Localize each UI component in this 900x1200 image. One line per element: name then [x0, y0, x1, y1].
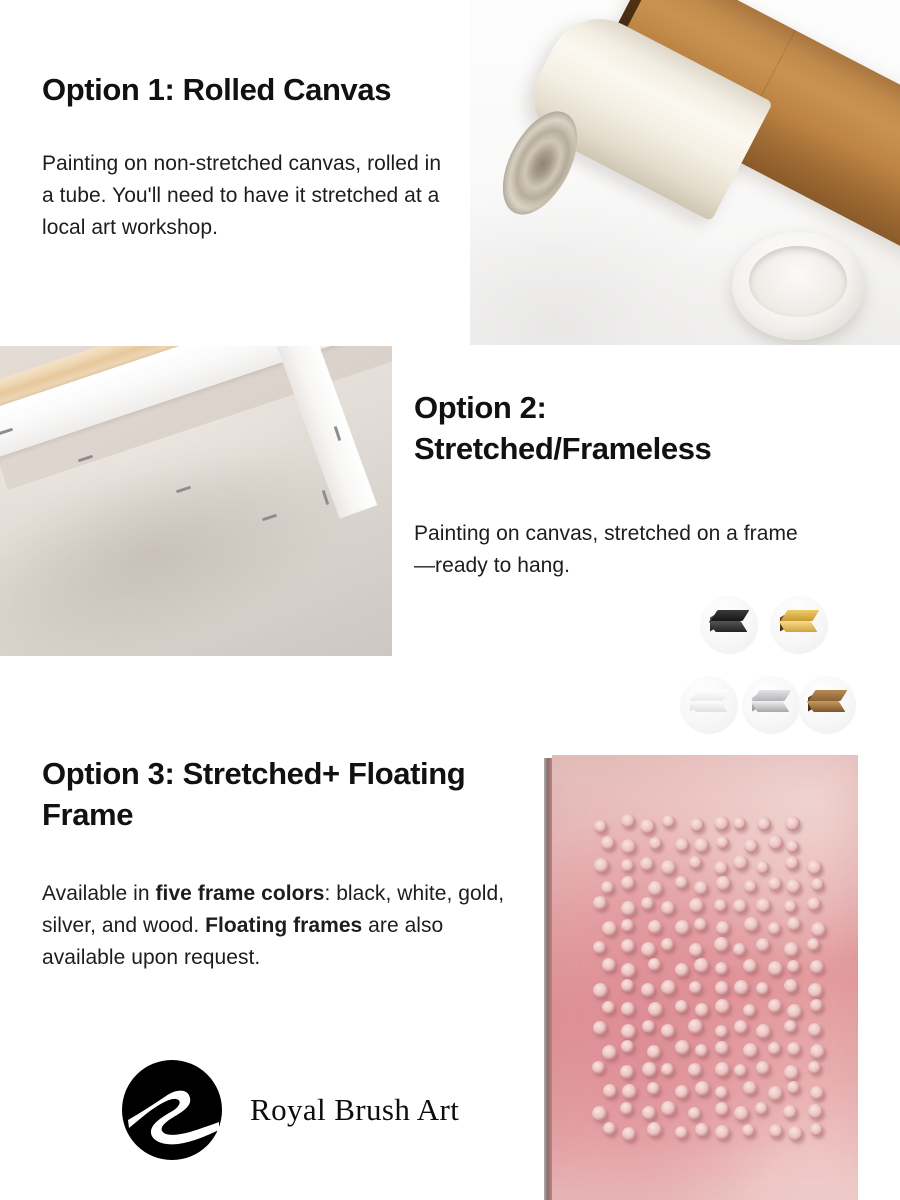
- artwork-texture-dot: [715, 981, 729, 995]
- artwork-texture-dot: [621, 1024, 636, 1039]
- frame-color-swatch-group: [676, 596, 862, 738]
- artwork-texture-dot: [621, 1040, 634, 1053]
- artwork-texture-dot: [807, 897, 821, 911]
- artwork-texture-dot: [811, 878, 824, 891]
- artwork-texture-dot: [784, 900, 797, 913]
- artwork-texture-dot: [642, 1106, 656, 1120]
- option-3-body: Available in five frame colors: black, w…: [42, 878, 512, 974]
- artwork-texture-dot: [695, 1003, 709, 1017]
- artwork-texture-dot: [743, 1043, 758, 1058]
- artwork-texture-dot: [733, 855, 748, 870]
- artwork-texture-dot: [768, 835, 783, 850]
- artwork-texture-dot: [787, 1042, 801, 1056]
- artwork-texture-dot: [768, 1042, 781, 1055]
- artwork-texture-dot: [642, 1062, 657, 1077]
- frame-corner-icon: [778, 606, 818, 644]
- artwork-texture-dot: [675, 1126, 688, 1139]
- artwork-texture-dot: [689, 856, 702, 869]
- artwork-texture-dot: [621, 876, 635, 890]
- artwork-texture-dot: [808, 1104, 823, 1119]
- artwork-texture-dot: [715, 962, 728, 975]
- artwork-texture-dot: [641, 983, 655, 997]
- artwork-texture-dot: [648, 881, 663, 896]
- artwork-texture-dot: [734, 1064, 747, 1077]
- artwork-texture-dot: [714, 899, 727, 912]
- pink-textured-artwork-photo: [544, 755, 858, 1200]
- artwork-texture-dot: [689, 943, 703, 957]
- artwork-texture-dot: [715, 1025, 728, 1038]
- artwork-texture-dot: [661, 938, 674, 951]
- artwork-texture-dot: [734, 1020, 748, 1034]
- artwork-texture-dot: [786, 879, 801, 894]
- body-text: Available in: [42, 882, 156, 905]
- artwork-texture-dot: [620, 1065, 634, 1079]
- stretched-canvas-back-corner-photo: [0, 346, 392, 656]
- artwork-texture-dot: [743, 1081, 757, 1095]
- artwork-texture-dot: [715, 1102, 729, 1116]
- artwork-texture-dot: [602, 958, 616, 972]
- artwork-texture-dot: [715, 1041, 729, 1055]
- artwork-texture-dot: [592, 1106, 607, 1121]
- artwork-texture-dot: [593, 983, 608, 998]
- frame-swatch-white[interactable]: [680, 676, 738, 734]
- artwork-texture-dot: [734, 1106, 749, 1121]
- artwork-texture-dot: [768, 877, 782, 891]
- artwork-texture-dot: [661, 1063, 674, 1076]
- option-1-body: Painting on non-stretched canvas, rolled…: [42, 148, 450, 244]
- artwork-texture-dot: [787, 1081, 800, 1094]
- canvas-options-infographic: Option 1: Rolled Canvas Painting on non-…: [0, 0, 900, 1200]
- artwork-texture-dot: [675, 838, 689, 852]
- artwork-texture-dot: [715, 1062, 730, 1077]
- artwork-texture-dot: [694, 881, 708, 895]
- artwork-texture-dot: [594, 820, 607, 833]
- artwork-texture-dot: [756, 898, 771, 913]
- artwork-texture-dot: [641, 897, 654, 910]
- artwork-texture-dot: [688, 1063, 702, 1077]
- frame-corner-icon: [708, 606, 748, 644]
- tube-end-cap: [732, 232, 864, 340]
- artwork-texture-dot: [662, 815, 675, 828]
- artwork-texture-dot: [716, 921, 730, 935]
- artwork-texture-dot: [785, 856, 799, 870]
- artwork-texture-dot: [641, 942, 656, 957]
- frame-corner-icon: [750, 686, 790, 724]
- artwork-texture-dot: [733, 943, 746, 956]
- brand-name: Royal Brush Art: [250, 1092, 459, 1128]
- artwork-texture-dot: [621, 939, 635, 953]
- artwork-texture-dot: [810, 960, 824, 974]
- artwork-texture-dot: [621, 839, 636, 854]
- artwork-texture-dot: [622, 1127, 636, 1141]
- artwork-texture-dot: [690, 818, 704, 832]
- artwork-texture-dot: [661, 1101, 676, 1116]
- artwork-texture-dot: [784, 1065, 799, 1080]
- artwork-texture-dot: [648, 1002, 663, 1017]
- artwork-texture-dot: [808, 983, 823, 998]
- option-2-heading: Option 2: Stretched/Frameless: [414, 388, 834, 470]
- artwork-texture-dot: [784, 942, 799, 957]
- frame-swatch-silver[interactable]: [742, 676, 800, 734]
- artwork-texture-dot: [675, 1085, 689, 1099]
- artwork-texture-dot: [756, 1061, 770, 1075]
- artwork-texture-dot: [602, 1001, 615, 1014]
- artwork-texture-dot: [661, 860, 676, 875]
- artwork-texture-dot: [755, 1102, 768, 1115]
- royal-brush-art-logo-icon: [120, 1058, 224, 1162]
- artwork-texture-dot: [593, 1021, 607, 1035]
- artwork-texture-dot: [783, 1105, 797, 1119]
- frame-corner-icon: [806, 686, 846, 724]
- artwork-texture-dot: [601, 836, 615, 850]
- artwork-texture-dot: [594, 858, 609, 873]
- artwork-texture-dot: [621, 963, 636, 978]
- artwork-texture-dot: [787, 960, 800, 973]
- option-2-body: Painting on canvas, stretched on a frame…: [414, 518, 818, 582]
- artwork-texture-dot: [675, 920, 690, 935]
- artwork-texture-dot: [810, 1086, 824, 1100]
- artwork-texture-dot: [715, 1086, 728, 1099]
- emphasized-text: Floating frames: [205, 914, 362, 937]
- artwork-texture-dot: [689, 898, 704, 913]
- artwork-texture-dot: [716, 876, 731, 891]
- artwork-texture-dot: [593, 896, 607, 910]
- artwork-texture-dot: [603, 1084, 617, 1098]
- artwork-texture-dot: [786, 840, 799, 853]
- artwork-texture-dot: [621, 919, 634, 932]
- artwork-texture-dot: [744, 880, 757, 893]
- artwork-texture-dot: [743, 1004, 756, 1017]
- artwork-texture-dot: [675, 963, 689, 977]
- artwork-texture-dot: [756, 938, 770, 952]
- artwork-texture-dot: [768, 961, 783, 976]
- artwork-texture-dot: [715, 999, 730, 1014]
- artwork-texture-dot: [593, 941, 606, 954]
- artwork-texture-dot: [785, 816, 800, 831]
- artwork-texture-dot: [694, 918, 707, 931]
- artwork-texture-dot: [648, 920, 662, 934]
- artwork-texture-dot: [768, 999, 782, 1013]
- artwork-texture-dot: [787, 1004, 802, 1019]
- artwork-texture-dot: [744, 839, 758, 853]
- artwork-texture-dot: [695, 1044, 708, 1057]
- frame-swatch-black[interactable]: [700, 596, 758, 654]
- artwork-texture-dot: [810, 1044, 825, 1059]
- artwork-texture-dot: [784, 979, 798, 993]
- artwork-texture-dots: [552, 755, 858, 1200]
- emphasized-text: five frame colors: [156, 882, 325, 905]
- artwork-texture-dot: [661, 901, 675, 915]
- brand-lockup: Royal Brush Art: [120, 1058, 459, 1162]
- artwork-texture-dot: [621, 901, 636, 916]
- artwork-texture-dot: [714, 937, 729, 952]
- artwork-texture-dot: [640, 819, 655, 834]
- artwork-texture-dot: [647, 1082, 660, 1095]
- artwork-texture-dot: [592, 1061, 605, 1074]
- frame-swatch-gold[interactable]: [770, 596, 828, 654]
- artwork-texture-dot: [694, 838, 709, 853]
- artwork-texture-dot: [744, 917, 759, 932]
- artwork-texture-dot: [621, 814, 635, 828]
- artwork-texture-dot: [694, 958, 709, 973]
- artwork-texture-dot: [811, 922, 826, 937]
- artwork-texture-dot: [675, 876, 688, 889]
- artwork-texture-dot: [642, 1020, 655, 1033]
- artwork-texture-dot: [784, 1020, 797, 1033]
- artwork-texture-dot: [661, 1024, 675, 1038]
- artwork-texture-dot: [756, 1024, 771, 1039]
- frame-corner-icon: [688, 686, 728, 724]
- artwork-texture-dot: [714, 816, 729, 831]
- artwork-texture-dot: [734, 980, 749, 995]
- artwork-texture-dot: [742, 1124, 755, 1137]
- artwork-texture-dot: [808, 1023, 822, 1037]
- artwork-texture-dot: [695, 1123, 709, 1137]
- artwork-texture-dot: [647, 1122, 662, 1137]
- artwork-texture-dot: [602, 921, 617, 936]
- artwork-texture-dot: [733, 899, 747, 913]
- artwork-texture-dot: [733, 817, 746, 830]
- artwork-texture-dot: [768, 922, 781, 935]
- artwork-texture-dot: [620, 1102, 633, 1115]
- artwork-texture-dot: [756, 861, 769, 874]
- artwork-texture-dot: [689, 981, 702, 994]
- artwork-texture-dot: [661, 980, 676, 995]
- artwork-texture-dot: [768, 1086, 783, 1101]
- artwork-texture-dot: [808, 1061, 821, 1074]
- artwork-texture-dot: [601, 881, 614, 894]
- artwork-texture-dot: [688, 1107, 701, 1120]
- artwork-texture-dot: [621, 979, 634, 992]
- artwork-texture-dot: [756, 982, 769, 995]
- artwork-texture-dot: [695, 1081, 710, 1096]
- artwork-texture-dot: [603, 1122, 616, 1135]
- artwork-texture-dot: [621, 859, 634, 872]
- artwork-texture-dot: [714, 861, 728, 875]
- artwork-texture-dot: [649, 837, 662, 850]
- artwork-texture-dot: [715, 1125, 730, 1140]
- artwork-texture-dot: [648, 958, 661, 971]
- artwork-texture-dot: [602, 1045, 617, 1060]
- artwork-texture-dot: [788, 1126, 803, 1141]
- rolled-canvas-in-mailing-tube-photo: [470, 0, 900, 345]
- artwork-texture-dot: [743, 959, 757, 973]
- artwork-texture-dot: [716, 836, 729, 849]
- artwork-texture-dot: [675, 1040, 690, 1055]
- artwork-texture-dot: [810, 999, 823, 1012]
- option-1-heading: Option 1: Rolled Canvas: [42, 70, 492, 111]
- option-3-heading: Option 3: Stretched+ Floating Frame: [42, 754, 472, 836]
- artwork-texture-dot: [807, 860, 822, 875]
- artwork-texture-dot: [675, 1000, 688, 1013]
- artwork-texture-dot: [640, 857, 654, 871]
- artwork-texture-dot: [769, 1124, 783, 1138]
- artwork-texture-dot: [621, 1002, 635, 1016]
- artwork-texture-dot: [757, 817, 771, 831]
- artwork-texture-dot: [622, 1084, 637, 1099]
- artwork-texture-dot: [807, 938, 820, 951]
- artwork-texture-dot: [647, 1045, 661, 1059]
- artwork-texture-dot: [810, 1123, 823, 1136]
- frame-swatch-wood[interactable]: [798, 676, 856, 734]
- artwork-texture-dot: [688, 1019, 703, 1034]
- artwork-texture-dot: [787, 917, 801, 931]
